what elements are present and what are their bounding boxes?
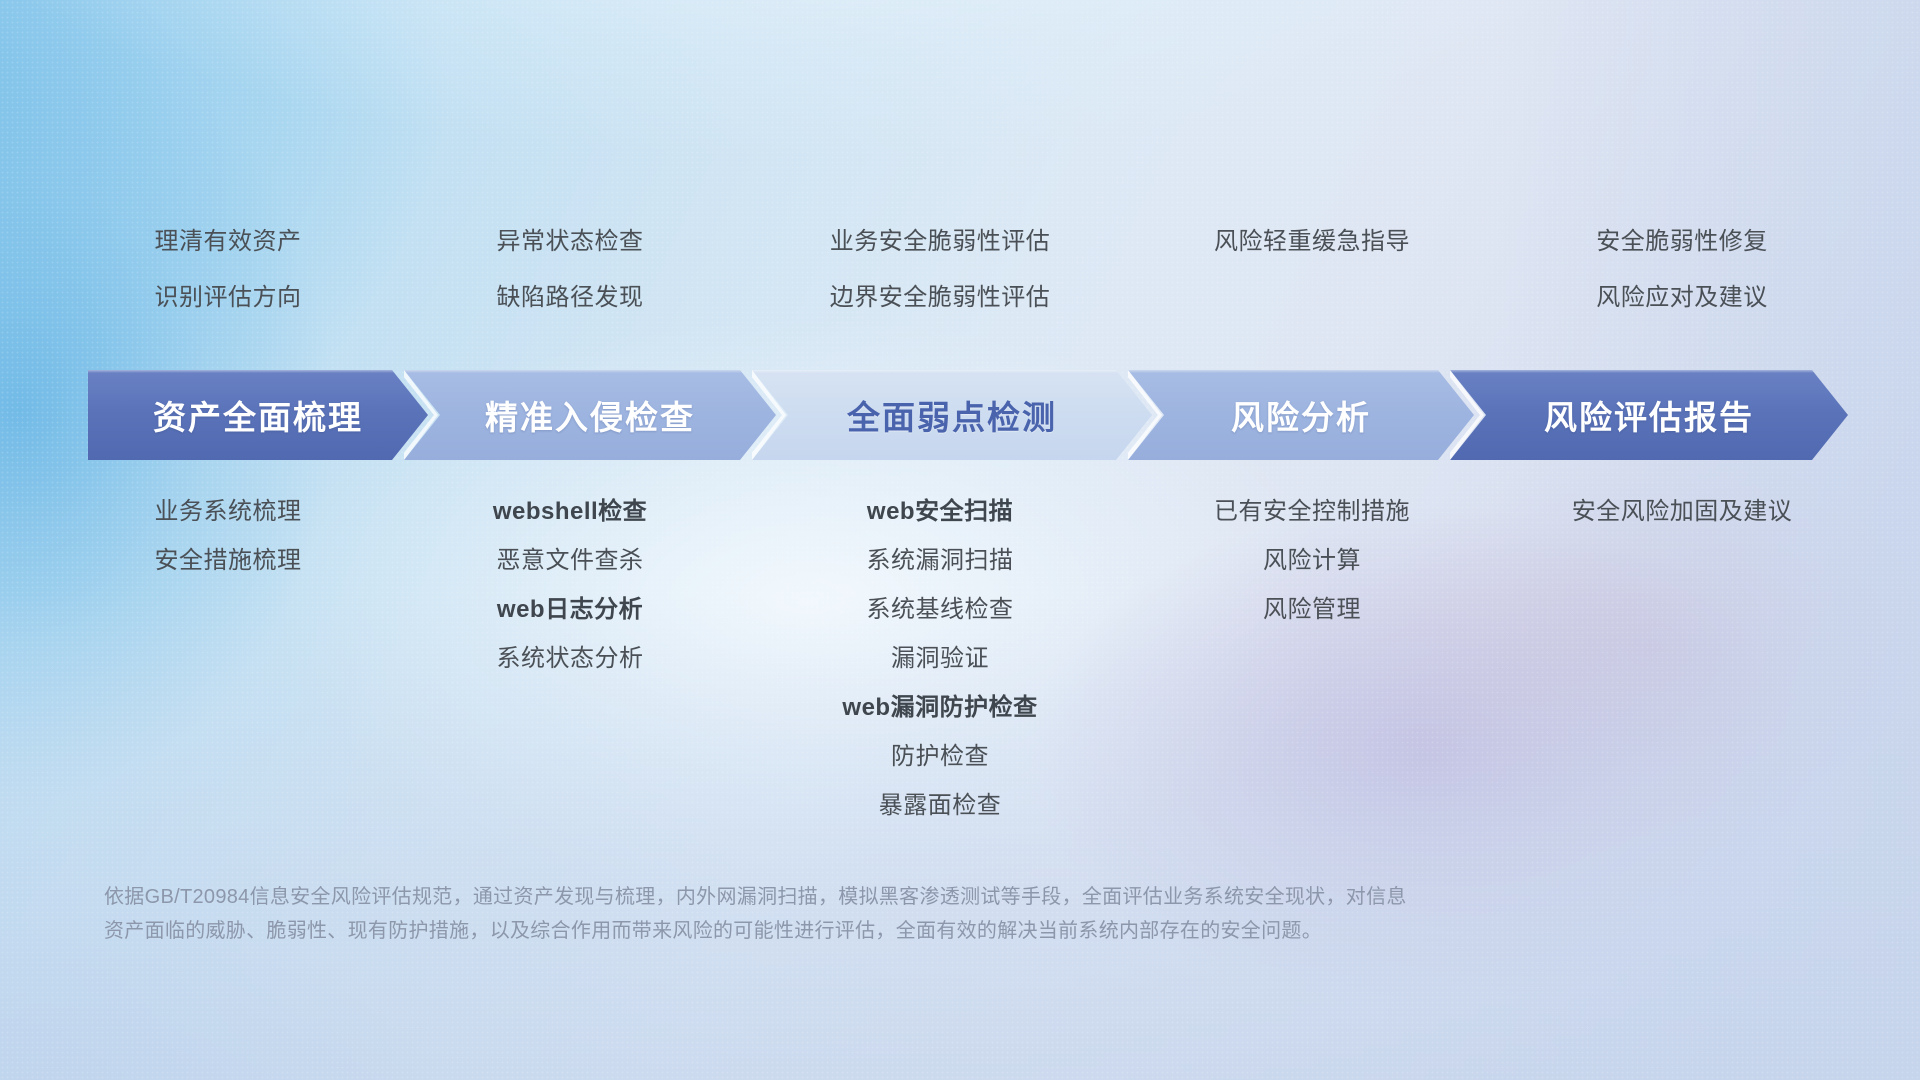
stage-outcomes-asset-inventory: 理清有效资产识别评估方向 xyxy=(155,230,302,310)
stage-activities-risk-report: 安全风险加固及建议 xyxy=(1572,500,1793,524)
footer-description: 依据GB/T20984信息安全风险评估规范，通过资产发现与梳理，内外网漏洞扫描，… xyxy=(104,880,1664,948)
chevron-stage-risk-analysis[interactable]: 风险分析 xyxy=(1128,370,1474,460)
chevron-stage-risk-report[interactable]: 风险评估报告 xyxy=(1450,370,1848,460)
chevron-label: 全面弱点检测 xyxy=(847,391,1057,439)
stage-outcomes-risk-analysis: 风险轻重缓急指导 xyxy=(1214,230,1410,254)
stage-activities-asset-inventory: 业务系统梳理安全措施梳理 xyxy=(155,500,302,573)
activity-item: 系统状态分析 xyxy=(497,647,644,671)
activity-item: 已有安全控制措施 xyxy=(1214,500,1410,524)
outcome-item: 缺陷路径发现 xyxy=(497,286,644,310)
outcome-item: 边界安全脆弱性评估 xyxy=(830,286,1051,310)
outcome-item: 识别评估方向 xyxy=(155,286,302,310)
chevron-stage-asset-inventory[interactable]: 资产全面梳理 xyxy=(88,370,428,460)
activity-item: 系统基线检查 xyxy=(867,598,1014,622)
footer-line-2: 资产面临的威胁、脆弱性、现有防护措施，以及综合作用而带来风险的可能性进行评估，全… xyxy=(104,914,1664,948)
stage-outcomes-weakness-detection: 业务安全脆弱性评估边界安全脆弱性评估 xyxy=(830,230,1051,310)
stage-activities-intrusion-check: webshell检查恶意文件查杀web日志分析系统状态分析 xyxy=(493,500,647,671)
chevron-stage-intrusion-check[interactable]: 精准入侵检查 xyxy=(404,370,776,460)
activity-item: web安全扫描 xyxy=(867,500,1013,524)
activity-item: web日志分析 xyxy=(497,598,643,622)
activity-item: 风险管理 xyxy=(1263,598,1361,622)
activity-item: 安全措施梳理 xyxy=(155,549,302,573)
outcome-item: 风险轻重缓急指导 xyxy=(1214,230,1410,254)
stage-activities-risk-analysis: 已有安全控制措施风险计算风险管理 xyxy=(1214,500,1410,622)
outcome-item: 异常状态检查 xyxy=(497,230,644,254)
chevron-label: 资产全面梳理 xyxy=(153,391,363,439)
outcome-item: 安全脆弱性修复 xyxy=(1596,230,1768,254)
activity-item: 安全风险加固及建议 xyxy=(1572,500,1793,524)
activity-item: 系统漏洞扫描 xyxy=(867,549,1014,573)
chevron-stage-weakness-detection[interactable]: 全面弱点检测 xyxy=(752,370,1152,460)
footer-line-1: 依据GB/T20984信息安全风险评估规范，通过资产发现与梳理，内外网漏洞扫描，… xyxy=(104,880,1664,914)
stage-outcomes-risk-report: 安全脆弱性修复风险应对及建议 xyxy=(1596,230,1768,310)
activity-item: 防护检查 xyxy=(891,745,989,769)
activity-item: 漏洞验证 xyxy=(891,647,989,671)
stage-activities-weakness-detection: web安全扫描系统漏洞扫描系统基线检查漏洞验证web漏洞防护检查防护检查暴露面检… xyxy=(842,500,1037,818)
outcome-item: 理清有效资产 xyxy=(155,230,302,254)
chevron-label: 风险分析 xyxy=(1231,391,1371,439)
activity-item: 恶意文件查杀 xyxy=(497,549,644,573)
activity-item: 风险计算 xyxy=(1263,549,1361,573)
activity-item: 暴露面检查 xyxy=(879,794,1002,818)
chevron-label: 风险评估报告 xyxy=(1544,391,1754,439)
stage-outcomes-intrusion-check: 异常状态检查缺陷路径发现 xyxy=(497,230,644,310)
outcome-item: 风险应对及建议 xyxy=(1596,286,1768,310)
process-flow-chevrons: 资产全面梳理精准入侵检查全面弱点检测风险分析风险评估报告 xyxy=(88,370,1848,460)
activity-item: 业务系统梳理 xyxy=(155,500,302,524)
activity-item: web漏洞防护检查 xyxy=(842,696,1037,720)
outcome-item: 业务安全脆弱性评估 xyxy=(830,230,1051,254)
activity-item: webshell检查 xyxy=(493,500,647,524)
chevron-label: 精准入侵检查 xyxy=(485,391,695,439)
